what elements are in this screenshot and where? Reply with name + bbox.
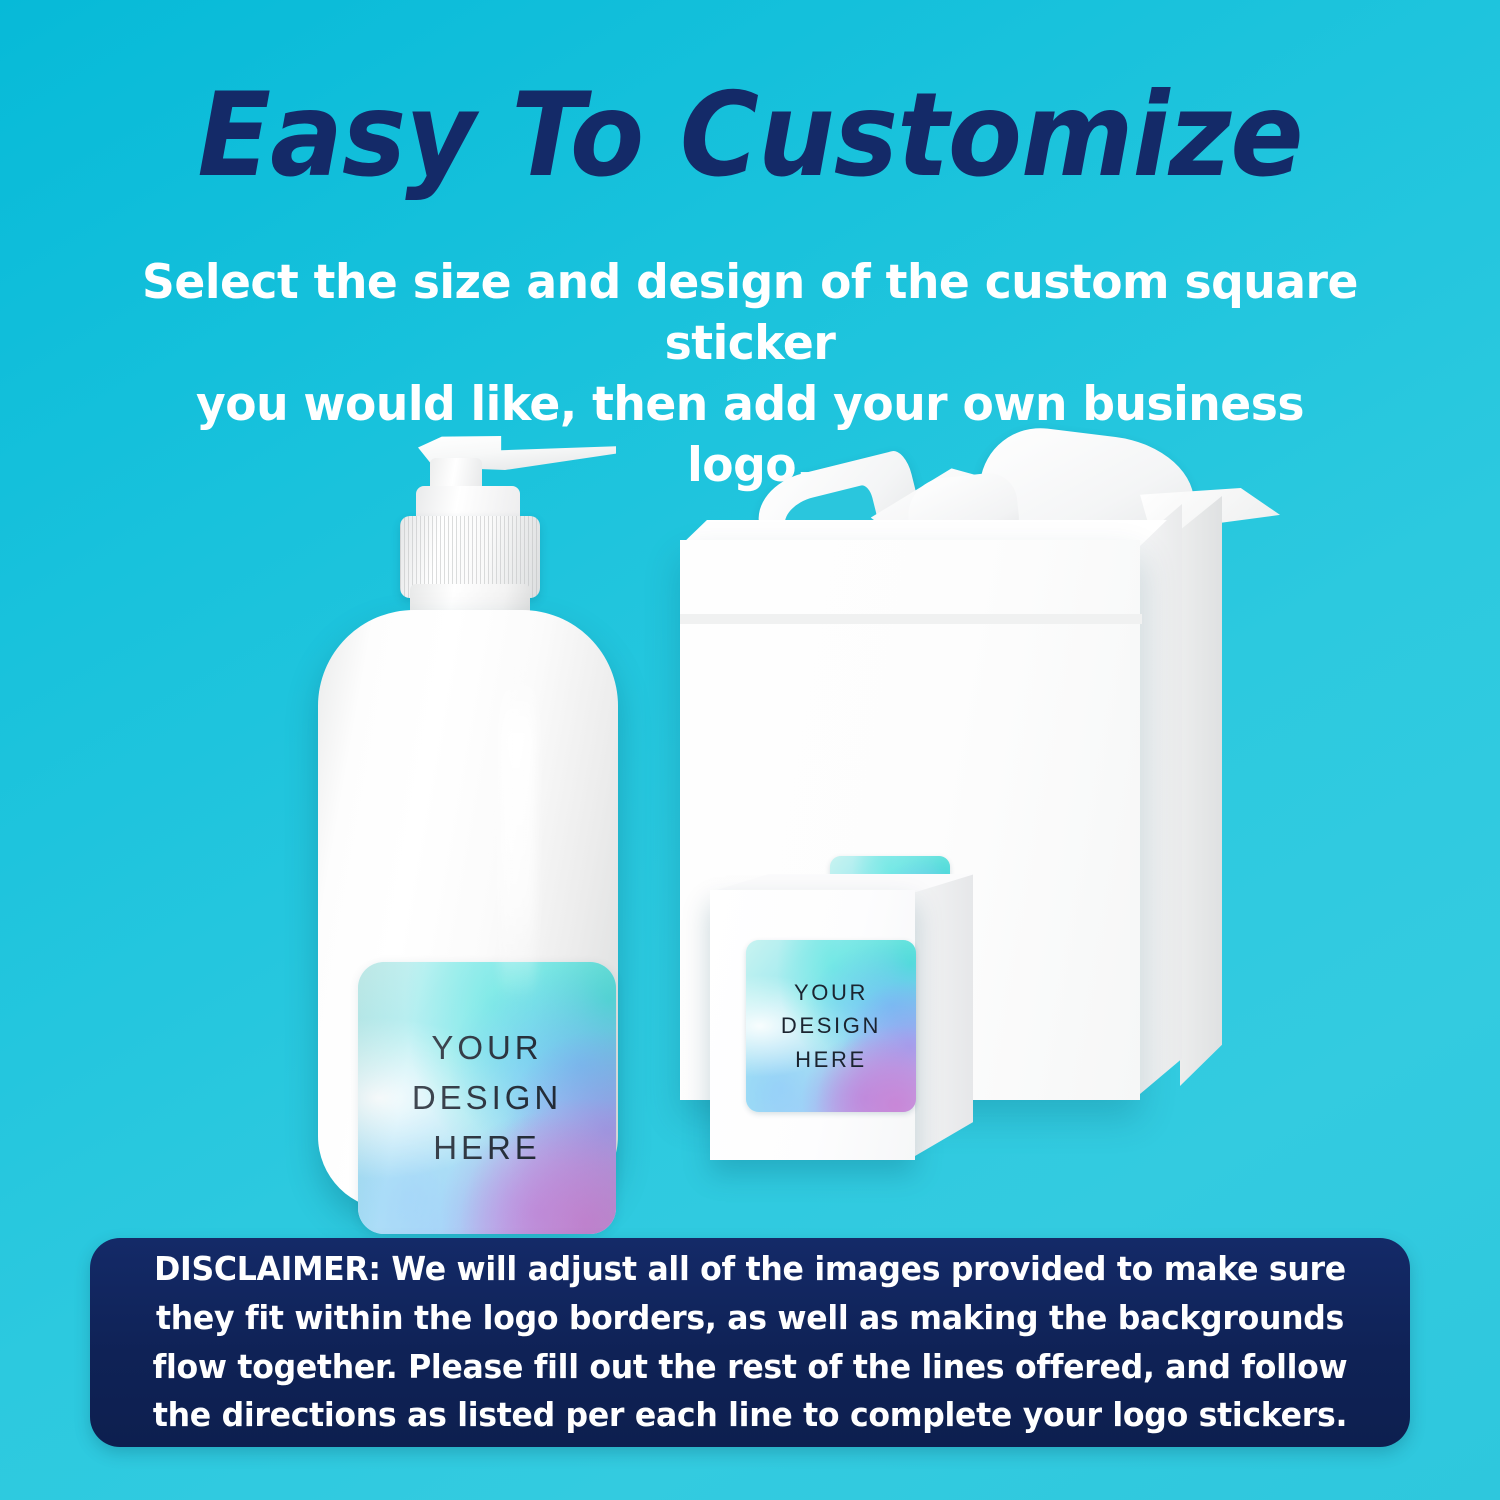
sticker-line-3: HERE	[433, 1123, 541, 1173]
sticker-line-2: DESIGN	[412, 1073, 562, 1123]
disclaimer-text: DISCLAIMER: We will adjust all of the im…	[149, 1245, 1352, 1440]
product-scene: YOUR DESIGN HERE YOUR DESIGN HERE	[0, 400, 1500, 1240]
gift-box-lid-edge	[680, 614, 1142, 624]
sticker-on-product-box: YOUR DESIGN HERE	[746, 940, 916, 1112]
gift-box-side-near	[1140, 504, 1182, 1094]
product-box-front-face: YOUR DESIGN HERE	[710, 890, 915, 1160]
sticker-line-1: YOUR	[431, 1023, 542, 1073]
product-box-side-face	[915, 874, 973, 1156]
product-listing-image: Easy To Customize Select the size and de…	[0, 0, 1500, 1500]
sticker-line-2: DESIGN	[781, 1009, 881, 1042]
sticker-text: YOUR DESIGN HERE	[358, 962, 616, 1234]
sticker-on-bottle: YOUR DESIGN HERE	[358, 962, 616, 1234]
page-title: Easy To Customize	[53, 78, 1448, 194]
sticker-line-1: YOUR	[794, 976, 868, 1009]
page-subtitle-line-1: Select the size and design of the custom…	[142, 255, 1358, 371]
disclaimer-banner: DISCLAIMER: We will adjust all of the im…	[90, 1238, 1410, 1447]
gift-box-side-far	[1180, 496, 1222, 1086]
sticker-line-3: HERE	[795, 1043, 867, 1076]
bottle-highlight	[500, 670, 536, 1000]
pump-bottle: YOUR DESIGN HERE	[300, 420, 640, 1230]
sticker-text: YOUR DESIGN HERE	[746, 940, 916, 1112]
bottle-body: YOUR DESIGN HERE	[318, 610, 618, 1210]
product-box: YOUR DESIGN HERE	[710, 890, 990, 1180]
